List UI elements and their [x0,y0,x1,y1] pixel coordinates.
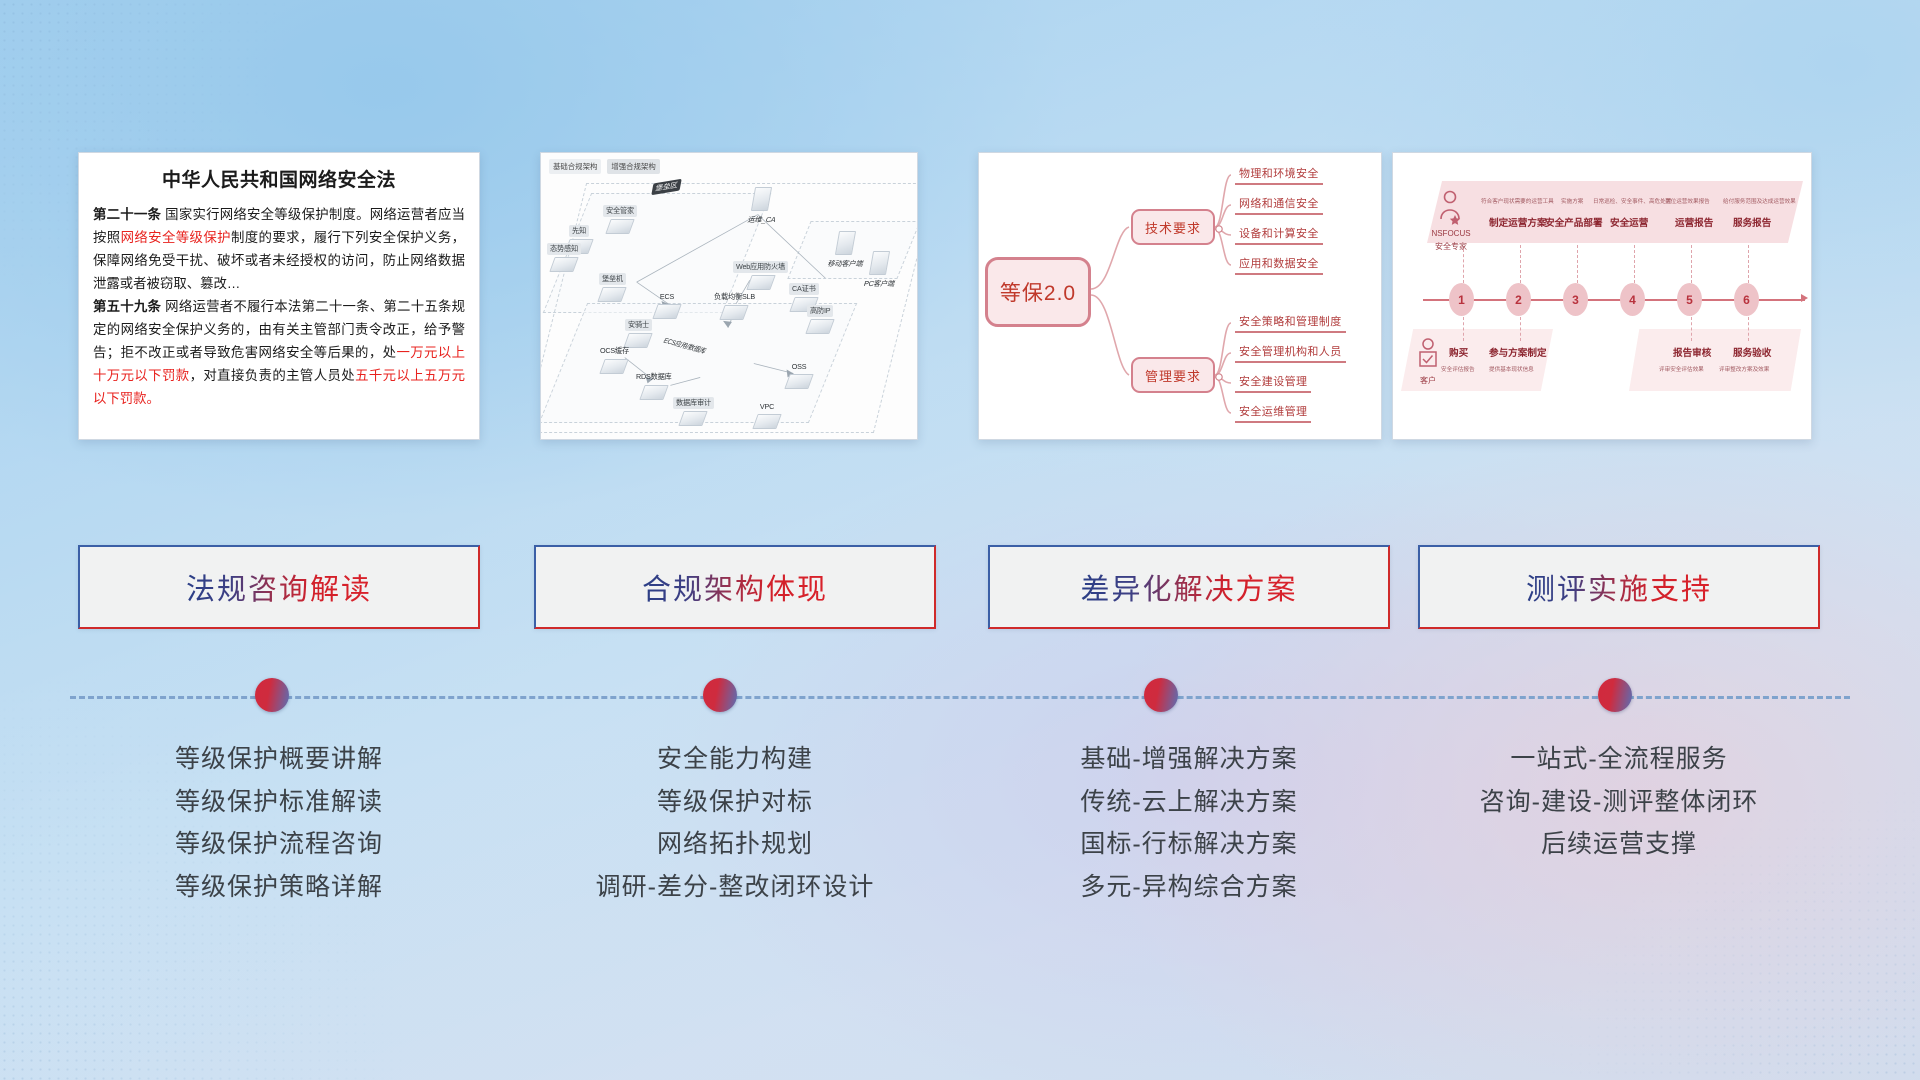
list-item: 等级保护对标 [534,781,936,824]
connector-b2 [1520,317,1521,341]
headline-box-architecture[interactable]: 合规架构体现 [534,545,936,629]
list-item: 咨询-建设-测评整体闭环 [1418,781,1820,824]
node-bastion-host: 堡垒机 [599,273,626,302]
law-title: 中华人民共和国网络安全法 [93,165,465,192]
slide-stage: 中华人民共和国网络安全法 第二十一条 国家实行网络安全等级保护制度。网络运营者应… [0,0,1920,1080]
mindmap-leaf-mgmt-3[interactable]: 安全建设管理 [1235,373,1311,393]
node-security-zone-banner: 堡垒区 [653,181,680,195]
law-paragraph-59: 第五十九条 网络运营者不履行本法第二十一条、第二十五条规定的网络安全保护义务的，… [93,295,465,410]
cloud-architecture-card[interactable]: 基础合规架构 增强合规架构 [540,152,918,440]
mindmap-root-node[interactable]: 等保2.0 [985,257,1091,327]
mindmap-leaf-tech-2[interactable]: 网络和通信安全 [1235,195,1323,215]
customer-person-icon [1415,337,1441,373]
headline-label-4: 测评实施支持 [1526,566,1712,608]
law-text-59b: ，对直接负责的主管人员处 [190,368,356,383]
law-article-label-59: 第五十九条 [93,299,161,314]
node-ecs-app-db-label: ECS应用/数据库 [659,339,712,353]
node-security-butler: 安全管家 [603,205,637,234]
step-3-sub: 实施方案 [1561,197,1583,205]
timeline-step-3[interactable]: 3 [1563,283,1588,316]
headline-box-regulation[interactable]: 法规咨询解读 [78,545,480,629]
node-ocs-cache: OCS缓存 [597,345,632,374]
mindmap-card[interactable]: 等保2.0 技术要求 管理要求 物理和环境安全 网络和通信安全 设备和计算安全 … [978,152,1382,440]
law-body: 中华人民共和国网络安全法 第二十一条 国家实行网络安全等级保护制度。网络运营者应… [79,153,479,418]
node-situation-awareness: 态势感知 [547,243,581,272]
customer-label: 客户 [1409,375,1447,386]
expert-role: 安全专家 [1429,241,1473,252]
headline-label-1: 法规咨询解读 [186,566,372,608]
mindmap-leaf-tech-1[interactable]: 物理和环境安全 [1235,165,1323,185]
list-item: 等级保护策略详解 [78,866,480,909]
connector-6 [1748,245,1749,283]
step-2-bottom-title: 参与方案制定 [1489,345,1547,359]
timeline-step-5[interactable]: 5 [1677,283,1702,316]
step-2-sub: 符合客户现状需要的运营工具 [1481,197,1554,205]
connector-3 [1577,245,1578,283]
list-item: 安全能力构建 [534,738,936,781]
nsfocus-timeline: NSFOCUS 安全专家 客户 1 2 3 4 5 6 [1393,153,1811,439]
bullet-column-row: 等级保护概要讲解 等级保护标准解读 等级保护流程咨询 等级保护策略详解 安全能力… [0,738,1920,1038]
timeline-marker-3[interactable] [1144,678,1178,712]
list-item: 一站式-全流程服务 [1418,738,1820,781]
mindmap-canvas: 等保2.0 技术要求 管理要求 物理和环境安全 网络和通信安全 设备和计算安全 … [979,153,1381,439]
connector-4 [1634,245,1635,283]
node-ops-ca: 运维_CA [745,187,778,228]
node-anqishi: 安骑士 [625,319,652,348]
node-slb: 负载均衡SLB [711,291,758,320]
step-6-sub: 给付服务范围及达成运营效果 [1723,197,1796,205]
connector-b5 [1691,317,1692,341]
headline-label-3: 差异化解决方案 [1080,566,1297,608]
headline-box-assessment[interactable]: 测评实施支持 [1418,545,1820,629]
node-oss: OSS [787,361,811,389]
step-5-bottom-sub: 评审安全评估效果 [1659,365,1704,373]
step-6-bottom-sub: 评审整改方案及效果 [1719,365,1769,373]
timeline-marker-4[interactable] [1598,678,1632,712]
mindmap-leaf-mgmt-1[interactable]: 安全策略和管理制度 [1235,313,1346,333]
law-document-card[interactable]: 中华人民共和国网络安全法 第二十一条 国家实行网络安全等级保护制度。网络运营者应… [78,152,480,440]
headline-box-solution[interactable]: 差异化解决方案 [988,545,1390,629]
step-3-title: 安全产品部署 [1545,215,1603,229]
node-waf: Web应用防火墙 [733,261,788,290]
nsfocus-expert-band [1427,181,1803,243]
list-item: 等级保护流程咨询 [78,823,480,866]
timeline-step-4[interactable]: 4 [1620,283,1645,316]
step-5-title: 运营报告 [1675,215,1713,229]
law-text-21-highlight: 网络安全等级保护 [121,230,231,245]
mindmap-branch-management[interactable]: 管理要求 [1131,357,1215,393]
bullet-column-1: 等级保护概要讲解 等级保护标准解读 等级保护流程咨询 等级保护策略详解 [78,738,480,908]
timeline-marker-2[interactable] [703,678,737,712]
node-anti-ddos-ip: 高防IP [807,305,833,334]
bullet-column-2: 安全能力构建 等级保护对标 网络拓扑规划 调研-差分-整改闭环设计 [534,738,936,908]
mindmap-leaf-tech-3[interactable]: 设备和计算安全 [1235,225,1323,245]
architecture-diagram: 基础合规架构 增强合规架构 [541,153,917,439]
mindmap-leaf-mgmt-4[interactable]: 安全运维管理 [1235,403,1311,423]
nsfocus-timeline-card[interactable]: NSFOCUS 安全专家 客户 1 2 3 4 5 6 [1392,152,1812,440]
step-2-bottom-sub: 提供基本现状信息 [1489,365,1534,373]
law-paragraph-21: 第二十一条 国家实行网络安全等级保护制度。网络运营者应当按照网络安全等级保护制度… [93,203,465,295]
step-5-bottom-title: 报告审核 [1673,345,1711,359]
expert-person-icon [1437,189,1463,229]
image-card-row: 中华人民共和国网络安全法 第二十一条 国家实行网络安全等级保护制度。网络运营者应… [0,152,1920,442]
bullet-column-4: 一站式-全流程服务 咨询-建设-测评整体闭环 后续运营支撑 [1418,738,1820,866]
mindmap-collapse-toggle-tech [1216,226,1222,232]
bullet-column-3: 基础-增强解决方案 传统-云上解决方案 国标-行标解决方案 多元-异构综合方案 [988,738,1390,908]
law-article-label-21: 第二十一条 [93,207,161,222]
headline-row: 法规咨询解读 合规架构体现 差异化解决方案 测评实施支持 [0,545,1920,635]
timeline-dashed-line [70,696,1850,699]
timeline-marker-1[interactable] [255,678,289,712]
timeline-step-2[interactable]: 2 [1506,283,1531,316]
step-6-title: 服务报告 [1733,215,1771,229]
list-item: 网络拓扑规划 [534,823,936,866]
timeline-step-6[interactable]: 6 [1734,283,1759,316]
list-item: 多元-异构综合方案 [988,866,1390,909]
mindmap-leaf-tech-4[interactable]: 应用和数据安全 [1235,255,1323,275]
connector-1 [1463,249,1464,283]
connector-5 [1691,245,1692,283]
connector-b1 [1463,317,1464,341]
node-rds-database: RDS数据库 [633,371,675,400]
node-mobile-client: 移动客户端 [825,231,866,272]
mindmap-collapse-toggle-mgmt [1216,374,1222,380]
list-item: 等级保护标准解读 [78,781,480,824]
step-4-title: 安全运营 [1610,215,1648,229]
step-1-bottom-title: 购买 [1449,345,1468,359]
connector-2 [1520,245,1521,283]
expert-name: NSFOCUS [1429,229,1473,238]
list-item: 国标-行标解决方案 [988,823,1390,866]
step-6-bottom-title: 服务验收 [1733,345,1771,359]
step-2-title: 制定运营方案 [1489,215,1547,229]
node-database-audit: 数据库审计 [673,397,714,426]
timeline-arrow-icon [1801,294,1808,302]
list-item: 后续运营支撑 [1418,823,1820,866]
timeline-step-1[interactable]: 1 [1449,283,1474,316]
list-item: 基础-增强解决方案 [988,738,1390,781]
node-vpc: VPC [755,401,779,429]
node-pc-client: PC客户端 [861,251,898,292]
customer-band-right [1629,329,1801,391]
list-item: 等级保护概要讲解 [78,738,480,781]
headline-label-2: 合规架构体现 [642,566,828,608]
step-1-bottom-sub: 安全评估报告 [1441,365,1475,373]
mindmap-leaf-mgmt-2[interactable]: 安全管理机构和人员 [1235,343,1346,363]
step-5-sub: 到位运营效果报告 [1665,197,1710,205]
mindmap-branch-technical[interactable]: 技术要求 [1131,209,1215,245]
list-item: 传统-云上解决方案 [988,781,1390,824]
node-ecs: ECS [655,291,679,319]
list-item: 调研-差分-整改闭环设计 [534,866,936,909]
step-4-sub: 日常巡检、安全事件、高危处置 [1593,197,1671,205]
connector-b6 [1748,317,1749,341]
